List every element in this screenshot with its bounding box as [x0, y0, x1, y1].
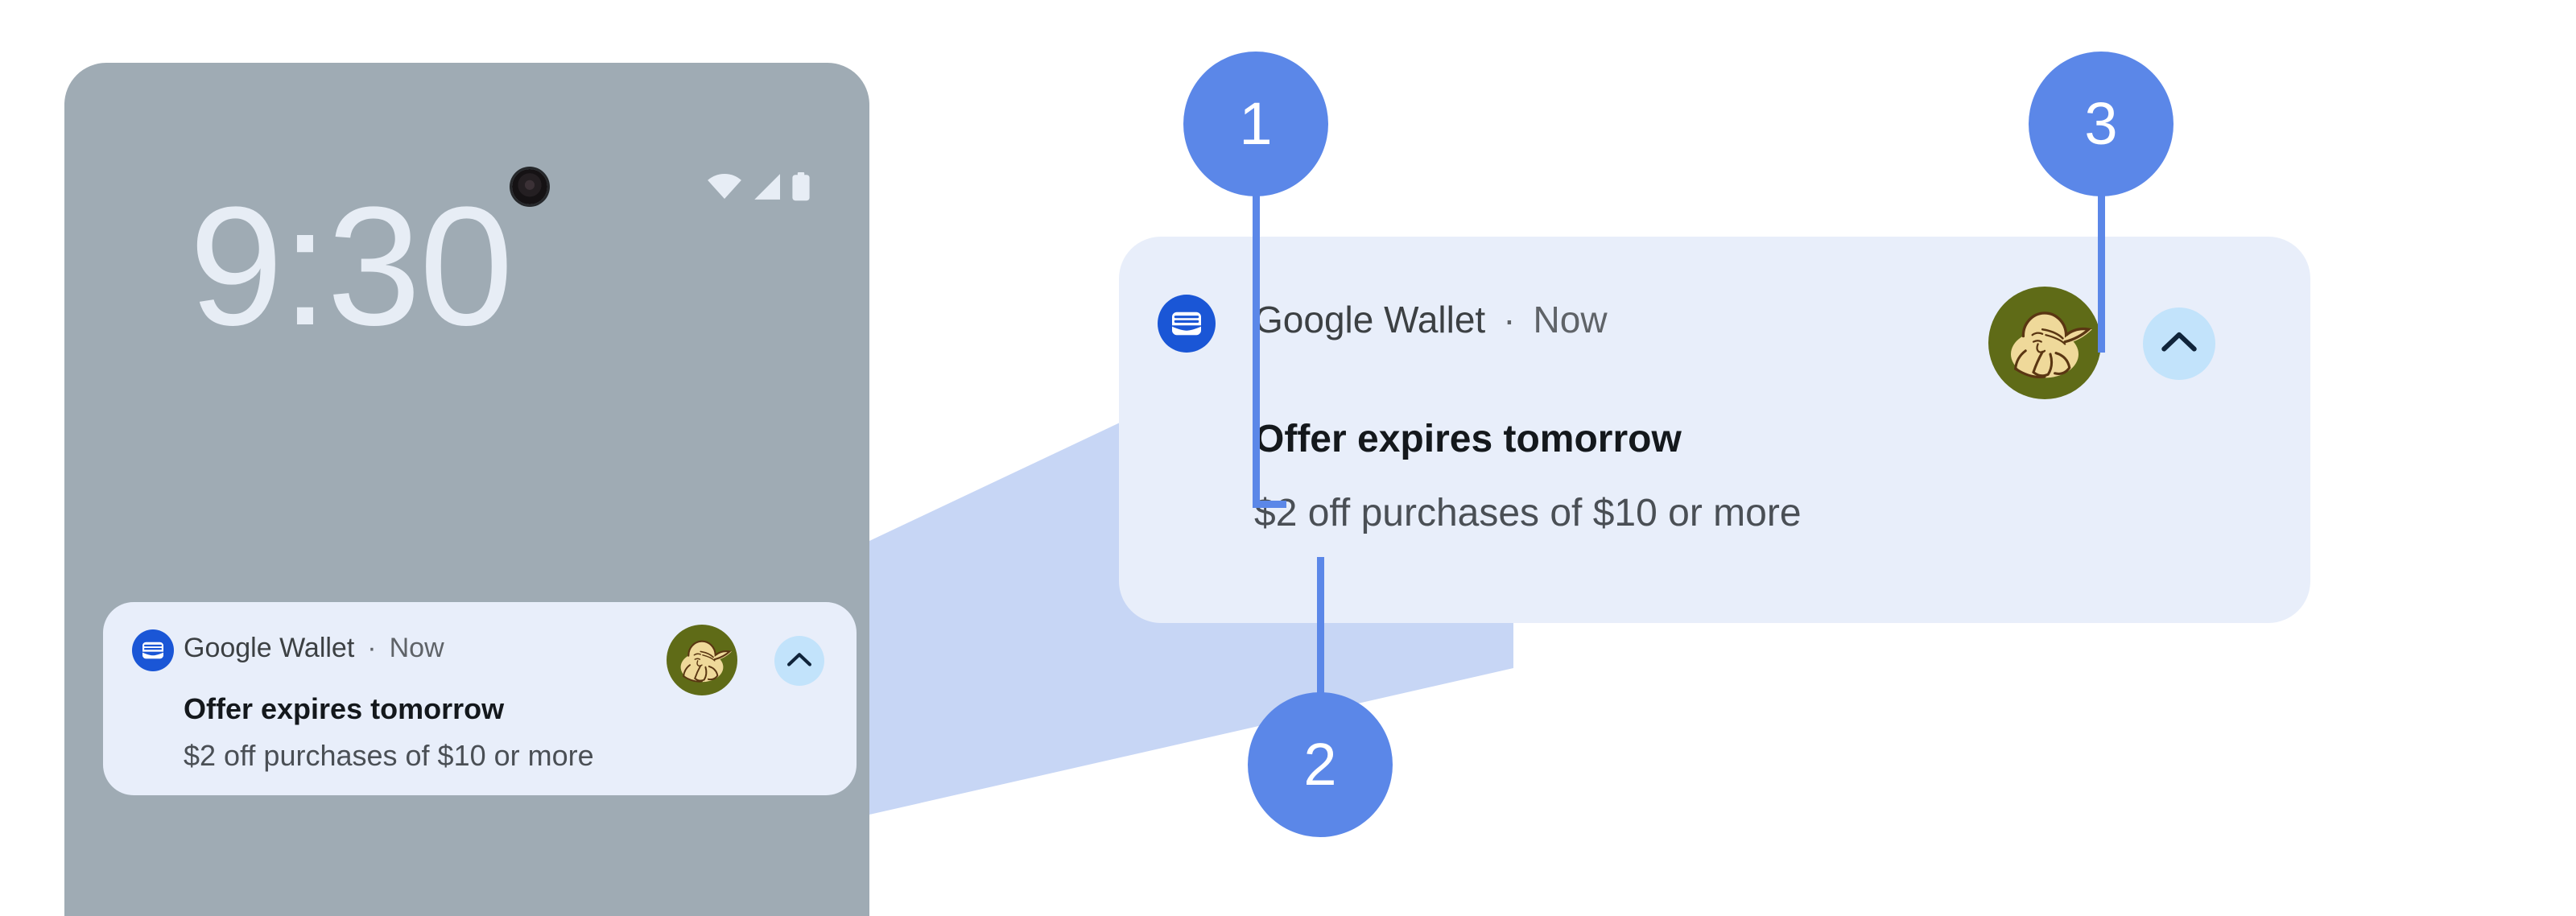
notification-card-lockscreen[interactable]: Google Wallet · Now Offer expires tomorr… [103, 602, 857, 795]
wifi-icon [707, 173, 742, 200]
notification-body: $2 off purchases of $10 or more [184, 739, 594, 773]
expand-notification-button[interactable] [2143, 307, 2215, 380]
merchant-avatar [667, 625, 737, 695]
notification-title: Offer expires tomorrow [184, 692, 504, 726]
callout-number: 2 [1248, 692, 1393, 837]
app-name-label: Google Wallet [1254, 298, 1485, 341]
callout-leader-line [1317, 557, 1324, 695]
google-wallet-icon [1158, 295, 1216, 353]
cellular-signal-icon [750, 173, 782, 200]
notification-body: $2 off purchases of $10 or more [1254, 491, 1802, 535]
google-wallet-icon [132, 629, 174, 671]
status-bar [707, 172, 811, 201]
callout-number: 3 [2029, 52, 2173, 196]
merchant-avatar [1988, 287, 2101, 399]
notification-timestamp: Now [390, 633, 444, 664]
lockscreen-clock: 9:30 [189, 182, 512, 351]
callout-number: 1 [1183, 52, 1328, 196]
callout-leader-line [1253, 195, 1260, 507]
battery-icon [791, 172, 811, 201]
notification-timestamp: Now [1534, 298, 1608, 341]
phone-device: 9:30 Google Wallet · Now [64, 63, 869, 916]
notification-title: Offer expires tomorrow [1254, 417, 1682, 461]
notification-header-row: Google Wallet · Now [1254, 298, 1608, 341]
front-camera-punch-hole [512, 169, 547, 204]
separator-dot: · [1503, 298, 1515, 341]
app-name-label: Google Wallet [184, 633, 354, 664]
expand-notification-button[interactable] [774, 636, 824, 686]
callout-leader-elbow [1253, 501, 1286, 508]
callout-leader-line [2098, 195, 2105, 353]
screenshot-stage: 9:30 Google Wallet · Now [0, 0, 2576, 863]
separator-dot: · [367, 633, 376, 664]
notification-card-zoomed[interactable]: Google Wallet · Now Offer expires tomorr… [1119, 237, 2310, 623]
